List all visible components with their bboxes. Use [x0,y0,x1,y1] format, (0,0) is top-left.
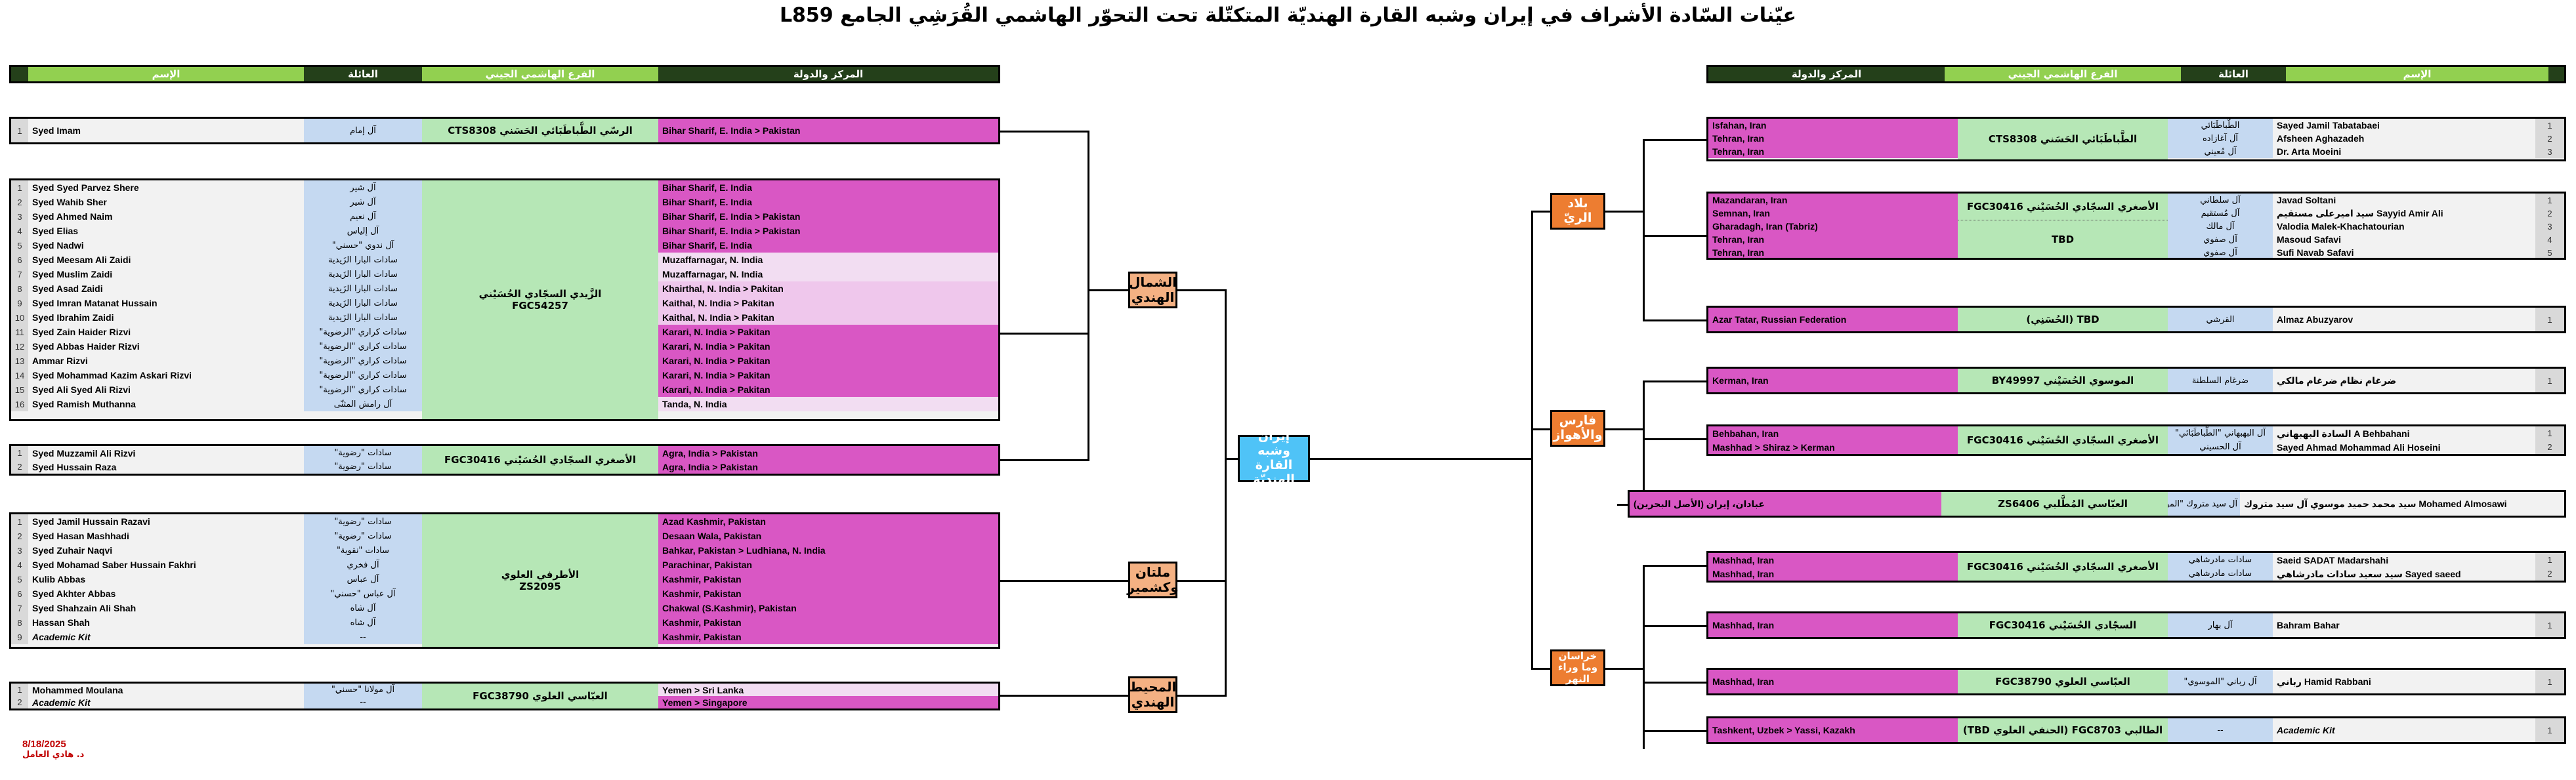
row-place: Mashhad, Iran [1708,670,1958,693]
row-family: آل بهار [2168,613,2273,637]
row-place: Mashhad, Iran [1708,613,1958,637]
table-right-4: Kerman, Iranضرغام السلطنةضرغام نظام ضرغا… [1706,367,2566,394]
row-place: Bihar Sharif, E. India [658,195,998,209]
row-place: Kashmir, Pakistan [658,586,998,601]
row-name: Syed Abbas Haider Rizvi [28,339,304,354]
row-place: Chakwal (S.Kashmir), Pakistan [658,601,998,615]
row-index: 5 [2535,246,2564,259]
row-place: Kerman, Iran [1708,369,1958,392]
connector [1175,695,1227,697]
connector [1643,625,1707,627]
branch-merged-right-9: العبّاسي العلوي FGC38790 [1958,670,2168,693]
connector [1531,428,1551,430]
connector [1605,668,1645,670]
row-name: Mohammed Moulana [28,684,304,696]
table-left-1: 1 Syed Imam آل إمام الرسّي الطَّباطَبَائ… [9,117,1000,144]
connector [1087,131,1089,289]
row-place: Kashmir, Pakistan [658,572,998,586]
row-family: آل شير [304,180,422,195]
row-index: 7 [11,267,28,281]
node-fars-ahwaz[interactable]: فارس والأهواز [1550,410,1605,447]
row-family: سادات البارا الزَيدية [304,310,422,325]
connector [1000,333,1089,335]
row-family: آل رباني "الموسوي" [2168,670,2273,693]
row-place: Kashmir, Pakistan [658,615,998,630]
connector [1087,580,1128,582]
row-name: Syed Hussain Raza [28,460,304,474]
row-family: سادات مادرشاهي [2168,567,2273,581]
row-name: Sayed Jamil Tabatabaei [2273,119,2535,132]
table-row[interactable]: 1 Syed Imam آل إمام الرسّي الطَّباطَبَائ… [11,119,998,142]
row-family: آل الحسيني [2168,440,2273,454]
row-place: Mazandaran, Iran [1708,194,1958,207]
row-name: Syed Akhter Abbas [28,586,304,601]
connector [1531,668,1551,670]
row-index: 3 [11,543,28,558]
branch-merged-right-5: الأصغري السجّادي الحُسَيْني FGC30416 [1958,426,2168,454]
row-index: 8 [11,281,28,296]
connector [1643,139,1707,141]
row-family: سادات البارا الزَيدية [304,267,422,281]
row-index: 3 [2535,145,2564,158]
connector [1643,565,1645,749]
row-name: سيد امیرعلی مستقيم Sayyid Amir Ali [2273,207,2535,220]
row-name: رباني Hamid Rabbani [2273,670,2535,693]
connector [1175,580,1227,582]
table-left-3: 1Syed Muzzamil Ali Rizviسادات "رضوية"Agr… [9,444,1000,476]
row-name: Syed Ramish Muthanna [28,397,304,411]
row-index: 1 [2535,119,2564,132]
row-index: 1 [2535,553,2564,567]
connector [1225,289,1227,697]
row-name: Ammar Rizvi [28,354,304,368]
row-index: 4 [2535,233,2564,246]
row-name: Syed Zuhair Naqvi [28,543,304,558]
header-family-right: العائلة [2181,67,2286,81]
right-column-header: المركز والدولة الفرع الهاشمي الجيني العا… [1706,65,2566,83]
row-name: Syed Shahzain Ali Shah [28,601,304,615]
branch-merged-right-7: الأصغري السجّادي الحُسَيْني FGC30416 [1958,553,2168,581]
row-family: سادات البارا الزَيدية [304,296,422,310]
row-index: 1 [11,514,28,529]
row-place: Kaithal, N. India > Pakitan [658,296,998,310]
row-place: Agra, India > Pakistan [658,446,998,460]
branch-merged-right-6: العبّاسي المُطَّلبي ZS6406 [1958,492,2168,516]
row-name: Saeid SADAT Madarshahi [2273,553,2535,567]
table-right-10: Tashkent, Uzbek > Yassi, Kazakh--Academi… [1706,716,2566,744]
row-name: Academic Kit [28,696,304,708]
row-index: 9 [11,630,28,644]
row-name: Afsheen Aghazadeh [2273,132,2535,145]
node-indian-ocean[interactable]: المحيط الهندي [1128,676,1177,713]
table-right-3: Azar Tatar, Russian FederationالقرشيAlma… [1706,306,2566,333]
row-name: Syed Syed Parvez Shere [28,180,304,195]
row-name: Syed Nadwi [28,238,304,253]
row-family: آل مُعيني [2168,145,2273,158]
node-label: المحيط الهندي [1130,680,1177,710]
header-name-left: الإسم [28,67,304,81]
row-branch: الرسّي الطَّباطَبَائي الحَسَني CTS8308 [422,119,658,142]
row-place: Karari, N. India > Pakitan [658,382,998,397]
row-index: 4 [11,224,28,238]
node-label: ملتان وكشمير [1127,565,1178,595]
table-right-2: Mazandaran, Iranآل سلطانيJavad Soltani1S… [1706,192,2566,260]
row-place: Muzaffarnagar, N. India [658,253,998,267]
row-place: Desaan Wala, Pakistan [658,529,998,543]
row-family: ضرغام السلطنة [2168,369,2273,392]
row-place: عبادان، إيران (الأصل البحرين) [1630,492,1941,516]
row-name: Sayed Ahmad Mohammad Ali Hoseini [2273,440,2535,454]
connector [1000,131,1089,133]
row-family: آل مالك [2168,220,2273,233]
row-place: Mashhad, Iran [1708,553,1958,567]
row-family: آل نعيم [304,209,422,224]
row-index: 10 [11,310,28,325]
node-label: إيران وشبه القارة الهنديّة [1240,430,1308,487]
connector [1000,580,1089,582]
row-name: السادة البهبهاني A Behbahani [2273,426,2535,440]
row-family: سادات كراري "الرضوية" [304,382,422,397]
row-family: آل رامش المثنّى [304,397,422,411]
branch-merged-right-10: الطالبي FGC8703 (الحنفي العلوي TBD) [1958,718,2168,742]
row-name: Syed Meesam Ali Zaidi [28,253,304,267]
node-label: فارس والأهواز [1553,414,1603,443]
row-name: Almaz Abuzyarov [2273,308,2535,331]
row-place: Yemen > Sri Lanka [658,684,998,696]
row-family: سادات كراري "الرضوية" [304,368,422,382]
row-index: 3 [2535,220,2564,233]
row-name: Hassan Shah [28,615,304,630]
row-place: Karari, N. India > Pakitan [658,368,998,382]
row-place: Tehran, Iran [1708,246,1958,259]
row-index: 15 [11,382,28,397]
connector [1087,289,1128,291]
row-index: 2 [11,529,28,543]
row-place: Bihar Sharif, E. India > Pakistan [658,119,998,142]
row-name: Academic Kit [28,630,304,644]
row-place: Agra, India > Pakistan [658,460,998,474]
row-name: سيد سعيد سادات مادرشاهي Sayed saeed [2273,567,2535,581]
row-index: 2 [11,195,28,209]
row-family: آل مُستقيم [2168,207,2273,220]
row-name: Syed Muslim Zaidi [28,267,304,281]
row-index: 9 [11,296,28,310]
row-family: آل صفوي [2168,233,2273,246]
row-family: آل صفوي [2168,246,2273,259]
row-index: 8 [11,615,28,630]
branch-merged-left-5: العبّاسي العلوي FGC38790 [422,684,658,708]
row-index: 6 [11,253,28,267]
branch-merged-right-2-top: الأصغري السجّادي الحُسَيْني FGC30416 [1958,194,2168,220]
row-place: Semnan, Iran [1708,207,1958,220]
row-place: Yemen > Singapore [658,696,998,708]
row-family: آل شاه [304,601,422,615]
table-right-8: Mashhad, Iranآل بهارBahram Bahar1 السجّا… [1706,611,2566,639]
row-place: Karari, N. India > Pakitan [658,339,998,354]
row-family: آل شاه [304,615,422,630]
branch-merged-left-4: الأطرفي العلوي ZS2095 [422,514,658,647]
row-place: Isfahan, Iran [1708,119,1958,132]
footer-author: د. هادي العامل [22,750,84,760]
row-index: 4 [11,558,28,572]
row-name: Kulib Abbas [28,572,304,586]
branch-merged-right-1: الطَّباطَبَائي الحَسَني CTS8308 [1958,119,2168,159]
row-index: 1 [11,180,28,195]
node-root[interactable]: إيران وشبه القارة الهنديّة [1238,435,1310,482]
row-name: Valodia Malek-Khachatourian [2273,220,2535,233]
row-name: سيد محمد حميد موسوي آل سيد متروك Mohamed… [2240,492,2564,516]
row-name: Syed Mohammad Kazim Askari Rizvi [28,368,304,382]
connector [1643,380,1645,505]
connector [1605,428,1645,430]
row-index: 13 [11,354,28,368]
row-name: Syed Asad Zaidi [28,281,304,296]
row-family: سادات البارا الزَيدية [304,253,422,267]
header-place-right: المركز والدولة [1708,67,1945,81]
row-family: آل ندوي "حسني" [304,238,422,253]
row-place: Mashhad, Iran [1708,567,1958,581]
row-name: Syed Hasan Mashhadi [28,529,304,543]
row-place: Behbahan, Iran [1708,426,1958,440]
row-index: 2 [11,696,28,708]
branch-merged-left-2: الزَّيدي السجّادي الحُسَيْني FGC54257 [422,180,658,419]
branch-merged-left-3: الأصغري السجّادي الحُسَيْني FGC30416 [422,446,658,474]
row-name: ضرغام نظام ضرغام مالكي [2273,369,2535,392]
left-column-header: الإسم العائلة الفرع الهاشمي الجيني المرك… [9,65,1000,83]
branch-merged-right-4: الموسوي الحُسَيْني BY49997 [1958,369,2168,392]
row-index: 1 [2535,308,2564,331]
row-family: سادات "رضوية" [304,514,422,529]
row-index: 1 [2535,369,2564,392]
row-index: 2 [2535,207,2564,220]
row-index: 7 [11,601,28,615]
connector [1531,211,1551,213]
connector [1643,565,1707,567]
node-label: خراسان وما وراء النهر [1552,651,1603,685]
connector [1605,211,1645,213]
row-place: Bihar Sharif, E. India > Pakistan [658,209,998,224]
row-family: آل سلطاني [2168,194,2273,207]
node-label: الشمال الهندي [1129,275,1177,305]
connector [1643,730,1707,732]
header-family-left: العائلة [304,67,422,81]
row-index: 14 [11,368,28,382]
table-right-1: Isfahan, IranالطَّباطَبَائيSayed Jamil T… [1706,117,2566,161]
connector [1643,438,1707,440]
node-multan-kashmir[interactable]: ملتان وكشمير [1128,562,1177,598]
row-family: -- [304,630,422,644]
row-place: Bihar Sharif, E. India > Pakistan [658,224,998,238]
row-place: Bihar Sharif, E. India [658,180,998,195]
row-family: سادات "نقوية" [304,543,422,558]
row-family: آل فخري [304,558,422,572]
row-name: Syed Ibrahim Zaidi [28,310,304,325]
row-family: الطَّباطَبَائي [2168,119,2273,132]
row-family: آل آغازاده [2168,132,2273,145]
connector [1643,682,1707,684]
row-name: Syed Wahib Sher [28,195,304,209]
table-right-5: Behbahan, Iranآل البهبهاني "الطَّباطَبَا… [1706,424,2566,456]
connector [1643,235,1707,237]
row-index: 1 [11,446,28,460]
row-name: Javad Soltani [2273,194,2535,207]
row-name: Dr. Arta Moeini [2273,145,2535,158]
table-right-7: Mashhad, Iranسادات مادرشاهيSaeid SADAT M… [1706,551,2566,583]
row-index: 1 [2535,426,2564,440]
node-label: بلاد الريّ [1552,197,1603,226]
node-khorasan[interactable]: خراسان وما وراء النهر [1550,649,1605,686]
row-family: -- [304,696,422,708]
row-place: Kashmir, Pakistan [658,630,998,644]
row-name: Syed Ali Syed Ali Rizvi [28,382,304,397]
row-place: Gharadagh, Iran (Tabriz) [1708,220,1958,233]
row-family: سادات كراري "الرضوية" [304,339,422,354]
row-name: Syed Imran Matanat Hussain [28,296,304,310]
row-index: 1 [2535,670,2564,693]
row-family: آل عباس [304,572,422,586]
row-place: Karari, N. India > Pakitan [658,325,998,339]
row-family: آل إلياس [304,224,422,238]
diagram-canvas: عيّنات السّادة الأشراف في إيران وشبه الق… [0,0,2576,780]
branch-merged-right-2-bottom: TBD [1958,220,2168,258]
row-index: 2 [11,460,28,474]
row-name: Syed Zain Haider Rizvi [28,325,304,339]
branch-merged-right-3: TBD (الحُسَنِي) [1958,308,2168,331]
row-place: Azar Tatar, Russian Federation [1708,308,1958,331]
table-left-2: 1Syed Syed Parvez Shereآل شيرBihar Shari… [9,178,1000,421]
table-right-6: عبادان، إيران (الأصل البحرين)آل سيد مترو… [1628,490,2566,518]
row-name: Syed Ahmed Naim [28,209,304,224]
row-index: 5 [11,238,28,253]
header-idx-right [2548,67,2564,81]
row-family: سادات كراري "الرضوية" [304,325,422,339]
row-index: 1 [2535,194,2564,207]
row-place: Karari, N. India > Pakitan [658,354,998,368]
row-index: 6 [11,586,28,601]
row-name: Syed Imam [28,119,304,142]
row-index: 2 [2535,567,2564,581]
row-place: Tanda, N. India [658,397,998,411]
row-family: آل مولانا "حسني" [304,684,422,696]
row-place: Tehran, Iran [1708,145,1958,158]
footer-date: 8/18/2025 [22,739,84,750]
row-family: سادات كراري "الرضوية" [304,354,422,368]
row-index: 2 [2535,132,2564,145]
header-branch-left: الفرع الهاشمي الجيني [422,67,658,81]
row-place: Bihar Sharif, E. India [658,238,998,253]
connector [1643,319,1707,321]
row-place: Muzaffarnagar, N. India [658,267,998,281]
row-family: القرشي [2168,308,2273,331]
row-family: آل البهبهاني "الطَّباطَبَائي" [2168,426,2273,440]
connector [1000,695,1128,697]
table-left-5: 1Mohammed Moulanaآل مولانا "حسني"Yemen >… [9,682,1000,710]
header-branch-right: الفرع الهاشمي الجيني [1945,67,2181,81]
row-index: 1 [11,119,28,142]
row-name: Sufi Navab Safavi [2273,246,2535,259]
row-place: Tashkent, Uzbek > Yassi, Kazakh [1708,718,1958,742]
row-name: Syed Elias [28,224,304,238]
row-family: سادات "رضوية" [304,529,422,543]
row-place: Mashhad > Shiraz > Kerman [1708,440,1958,454]
node-bilad-al-rayy[interactable]: بلاد الريّ [1550,193,1605,230]
page-title: عيّنات السّادة الأشراف في إيران وشبه الق… [0,4,2576,27]
row-name: Syed Jamil Hussain Razavi [28,514,304,529]
row-index: 3 [11,209,28,224]
row-name: Academic Kit [2273,718,2535,742]
row-place: Kaithal, N. India > Pakitan [658,310,998,325]
row-family: آل عباس "حسني" [304,586,422,601]
row-index: 1 [2535,613,2564,637]
row-index: 5 [11,572,28,586]
footer: 8/18/2025 د. هادي العامل [22,739,84,760]
header-place-left: المركز والدولة [658,67,998,81]
row-family: سادات مادرشاهي [2168,553,2273,567]
row-index: 1 [11,684,28,696]
connector [1643,380,1707,382]
row-family: -- [2168,718,2273,742]
connector [1175,289,1227,291]
connector [1087,289,1089,461]
row-place: Tehran, Iran [1708,233,1958,246]
row-name: Syed Muzzamil Ali Rizvi [28,446,304,460]
row-family: سادات البارا الزَيدية [304,281,422,296]
row-index: 2 [2535,440,2564,454]
connector [1310,458,1533,460]
row-index: 1 [2535,718,2564,742]
branch-merged-right-8: السجّادي الحُسَيْني FGC30416 [1958,613,2168,637]
row-place: Azad Kashmir, Pakistan [658,514,998,529]
table-left-4: 1Syed Jamil Hussain Razaviسادات "رضوية"A… [9,512,1000,649]
connector [1643,139,1645,319]
row-place: Tehran, Iran [1708,132,1958,145]
row-place: Khairthal, N. India > Pakitan [658,281,998,296]
row-name: Syed Mohamad Saber Hussain Fakhri [28,558,304,572]
row-index: 11 [11,325,28,339]
row-family: آل شير [304,195,422,209]
row-index: 12 [11,339,28,354]
row-index: 16 [11,397,28,411]
row-place: Bahkar, Pakistan > Ludhiana, N. India [658,543,998,558]
row-family: سادات "رضوية" [304,446,422,460]
row-name: Masoud Safavi [2273,233,2535,246]
connector [1531,211,1533,670]
row-place: Parachinar, Pakistan [658,558,998,572]
row-family: آل إمام [304,119,422,142]
table-right-9: Mashhad, Iranآل رباني "الموسوي"رباني Ham… [1706,668,2566,695]
row-family: سادات "رضوية" [304,460,422,474]
row-name: Bahram Bahar [2273,613,2535,637]
header-name-right: الإسم [2286,67,2548,81]
node-north-india[interactable]: الشمال الهندي [1128,272,1177,308]
connector [1000,459,1089,461]
